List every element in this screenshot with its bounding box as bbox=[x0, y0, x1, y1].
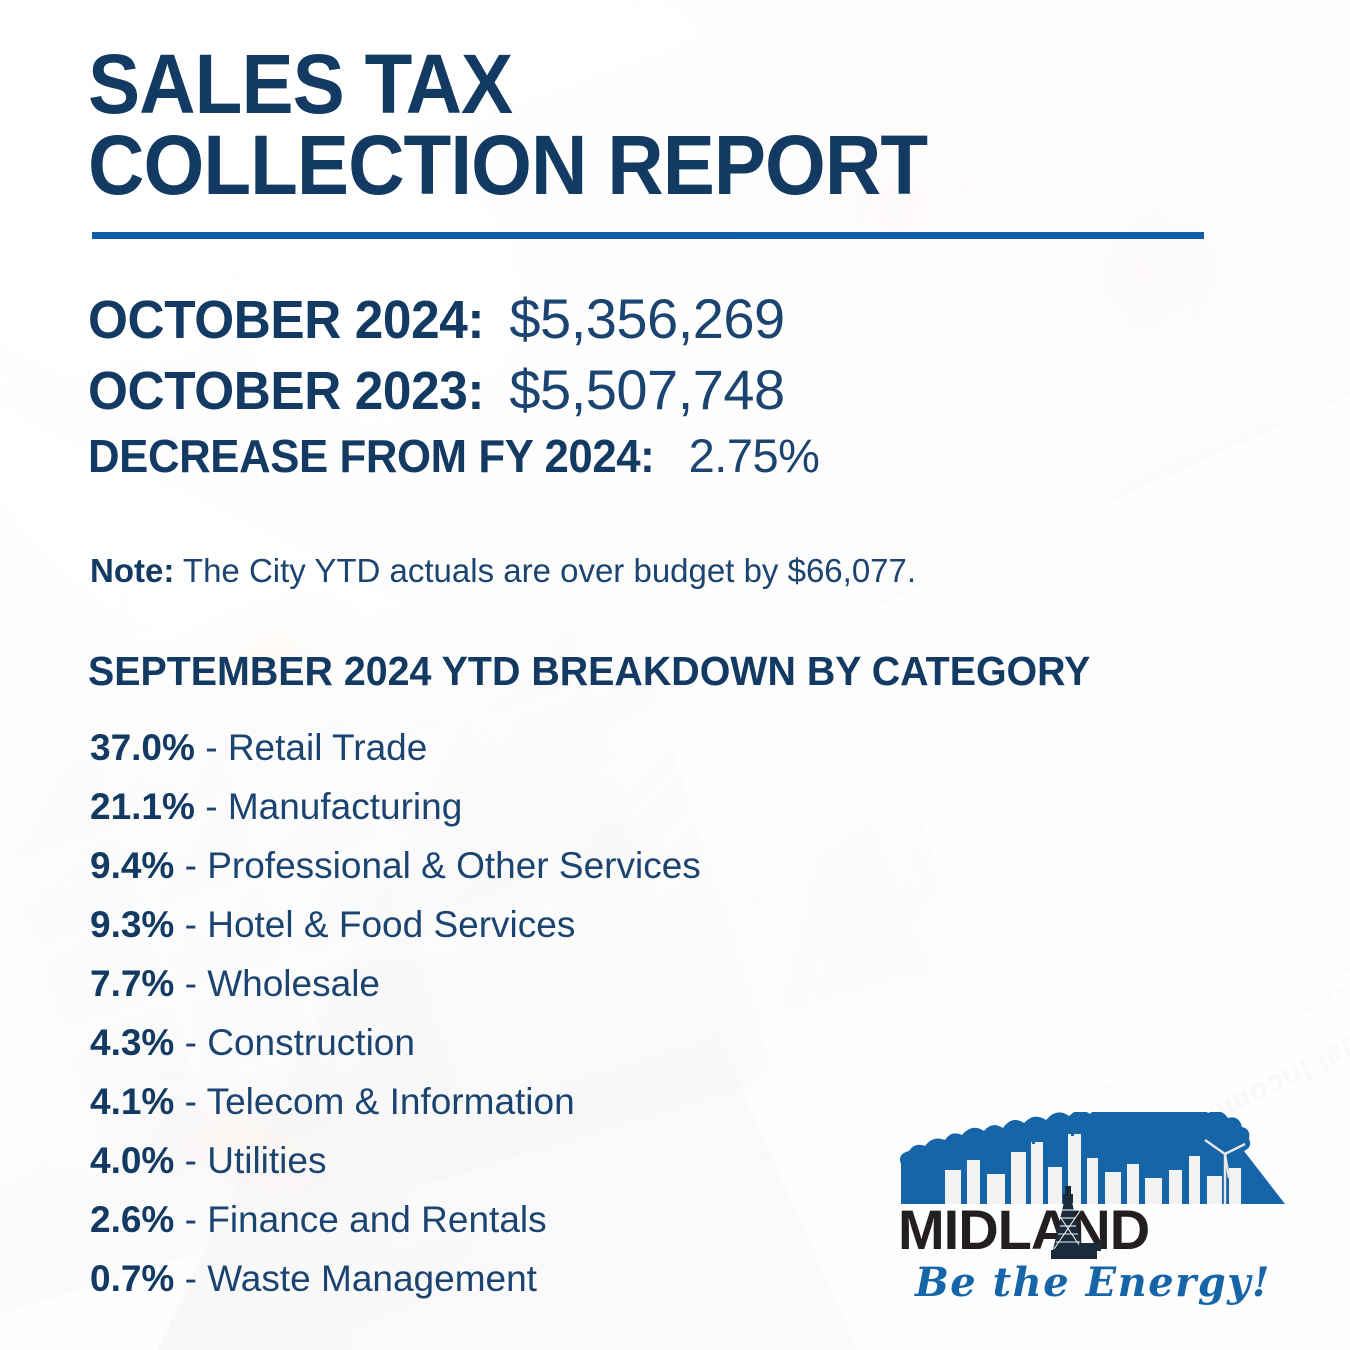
page-title: SALES TAX COLLECTION REPORT bbox=[88, 44, 1185, 207]
category-breakdown-list: 37.0% - Retail Trade 21.1% - Manufacturi… bbox=[90, 722, 990, 1312]
list-item: 4.0% - Utilities bbox=[90, 1135, 990, 1194]
figure-value: $5,507,748 bbox=[509, 358, 784, 421]
list-item: 9.4% - Professional & Other Services bbox=[90, 840, 990, 899]
category-percent: 4.0% bbox=[90, 1140, 174, 1181]
skyline-icon bbox=[900, 1112, 1285, 1204]
category-separator: - bbox=[185, 1140, 197, 1181]
midland-logo: MIDLAND bbox=[893, 1112, 1293, 1312]
category-separator: - bbox=[185, 1258, 197, 1299]
category-separator: - bbox=[185, 845, 197, 886]
breakdown-heading: SEPTEMBER 2024 YTD BREAKDOWN BY CATEGORY bbox=[88, 648, 1090, 695]
figure-label: OCTOBER 2023: bbox=[88, 360, 484, 422]
category-name: Utilities bbox=[207, 1140, 326, 1181]
category-percent: 9.4% bbox=[90, 845, 174, 886]
category-percent: 37.0% bbox=[90, 727, 195, 768]
list-item: 7.7% - Wholesale bbox=[90, 958, 990, 1017]
category-name: Manufacturing bbox=[228, 786, 462, 827]
category-percent: 21.1% bbox=[90, 786, 195, 827]
list-item: 2.6% - Finance and Rentals bbox=[90, 1194, 990, 1253]
report-content: SALES TAX COLLECTION REPORT OCTOBER 2024… bbox=[0, 0, 1350, 1350]
category-name: Waste Management bbox=[207, 1258, 537, 1299]
note-prefix: Note: bbox=[90, 552, 174, 589]
list-item: 37.0% - Retail Trade bbox=[90, 722, 990, 781]
figure-row: OCTOBER 2023: $5,507,748 bbox=[88, 357, 1288, 422]
category-separator: - bbox=[185, 904, 197, 945]
logo-wordmark: MIDLAND bbox=[898, 1198, 1149, 1261]
category-percent: 9.3% bbox=[90, 904, 174, 945]
list-item: 21.1% - Manufacturing bbox=[90, 781, 990, 840]
category-separator: - bbox=[185, 963, 197, 1004]
list-item: 4.1% - Telecom & Information bbox=[90, 1076, 990, 1135]
category-name: Hotel & Food Services bbox=[207, 904, 575, 945]
category-separator: - bbox=[185, 1022, 197, 1063]
category-percent: 0.7% bbox=[90, 1258, 174, 1299]
figure-value: 2.75% bbox=[689, 429, 820, 482]
figure-value: $5,356,269 bbox=[509, 287, 784, 350]
list-item: 9.3% - Hotel & Food Services bbox=[90, 899, 990, 958]
logo-tagline: Be the Energy! bbox=[914, 1259, 1271, 1306]
note-text: The City YTD actuals are over budget by … bbox=[183, 552, 916, 589]
list-item: 4.3% - Construction bbox=[90, 1017, 990, 1076]
figure-row: OCTOBER 2024: $5,356,269 bbox=[88, 286, 1288, 351]
category-name: Professional & Other Services bbox=[207, 845, 701, 886]
title-divider bbox=[92, 232, 1204, 239]
category-name: Construction bbox=[207, 1022, 415, 1063]
category-name: Retail Trade bbox=[228, 727, 428, 768]
category-percent: 4.1% bbox=[90, 1081, 174, 1122]
figure-label: DECREASE FROM FY 2024: bbox=[88, 429, 654, 483]
sales-tax-report-graphic: Department of the Treasury—Internal Reve… bbox=[0, 0, 1350, 1350]
list-item: 0.7% - Waste Management bbox=[90, 1253, 990, 1312]
figure-label: OCTOBER 2024: bbox=[88, 289, 484, 351]
category-percent: 2.6% bbox=[90, 1199, 174, 1240]
category-separator: - bbox=[205, 727, 217, 768]
category-separator: - bbox=[185, 1081, 197, 1122]
figure-row: DECREASE FROM FY 2024: 2.75% bbox=[88, 428, 1288, 483]
category-name: Finance and Rentals bbox=[207, 1199, 546, 1240]
category-separator: - bbox=[185, 1199, 197, 1240]
category-percent: 4.3% bbox=[90, 1022, 174, 1063]
key-figures: OCTOBER 2024: $5,356,269 OCTOBER 2023: $… bbox=[88, 286, 1288, 485]
category-percent: 7.7% bbox=[90, 963, 174, 1004]
category-name: Telecom & Information bbox=[207, 1081, 575, 1122]
note-line: Note: The City YTD actuals are over budg… bbox=[90, 552, 916, 590]
category-separator: - bbox=[205, 786, 217, 827]
category-name: Wholesale bbox=[207, 963, 380, 1004]
